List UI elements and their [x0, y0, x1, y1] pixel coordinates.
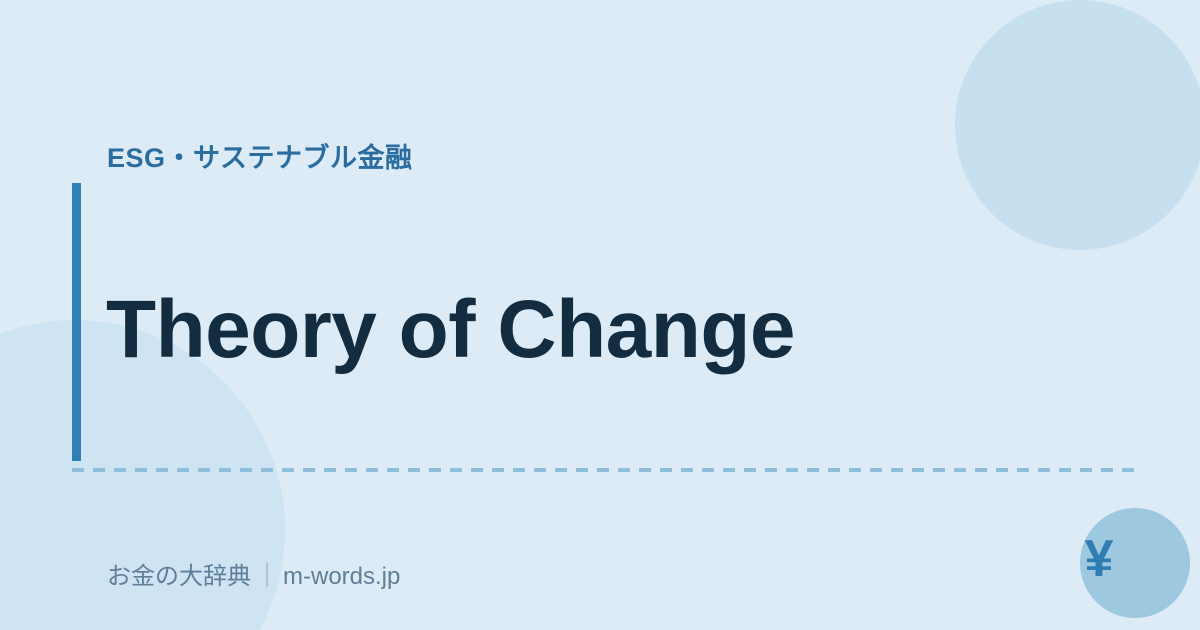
page-title: Theory of Change: [106, 289, 795, 371]
footer-site-name: お金の大辞典: [107, 563, 251, 590]
footer-separator: ｜: [251, 563, 283, 590]
yen-icon: ¥: [1078, 533, 1120, 585]
accent-bar: [72, 183, 81, 461]
decorative-circle-top-right: [955, 0, 1200, 250]
og-image-card: ¥ ESG・サステナブル金融 Theory of Change お金の大辞典｜m…: [0, 0, 1200, 630]
dashed-divider: [72, 468, 1136, 472]
category-label: ESG・サステナブル金融: [107, 136, 412, 175]
footer: お金の大辞典｜m-words.jp: [107, 556, 400, 591]
footer-domain: m-words.jp: [283, 563, 400, 590]
